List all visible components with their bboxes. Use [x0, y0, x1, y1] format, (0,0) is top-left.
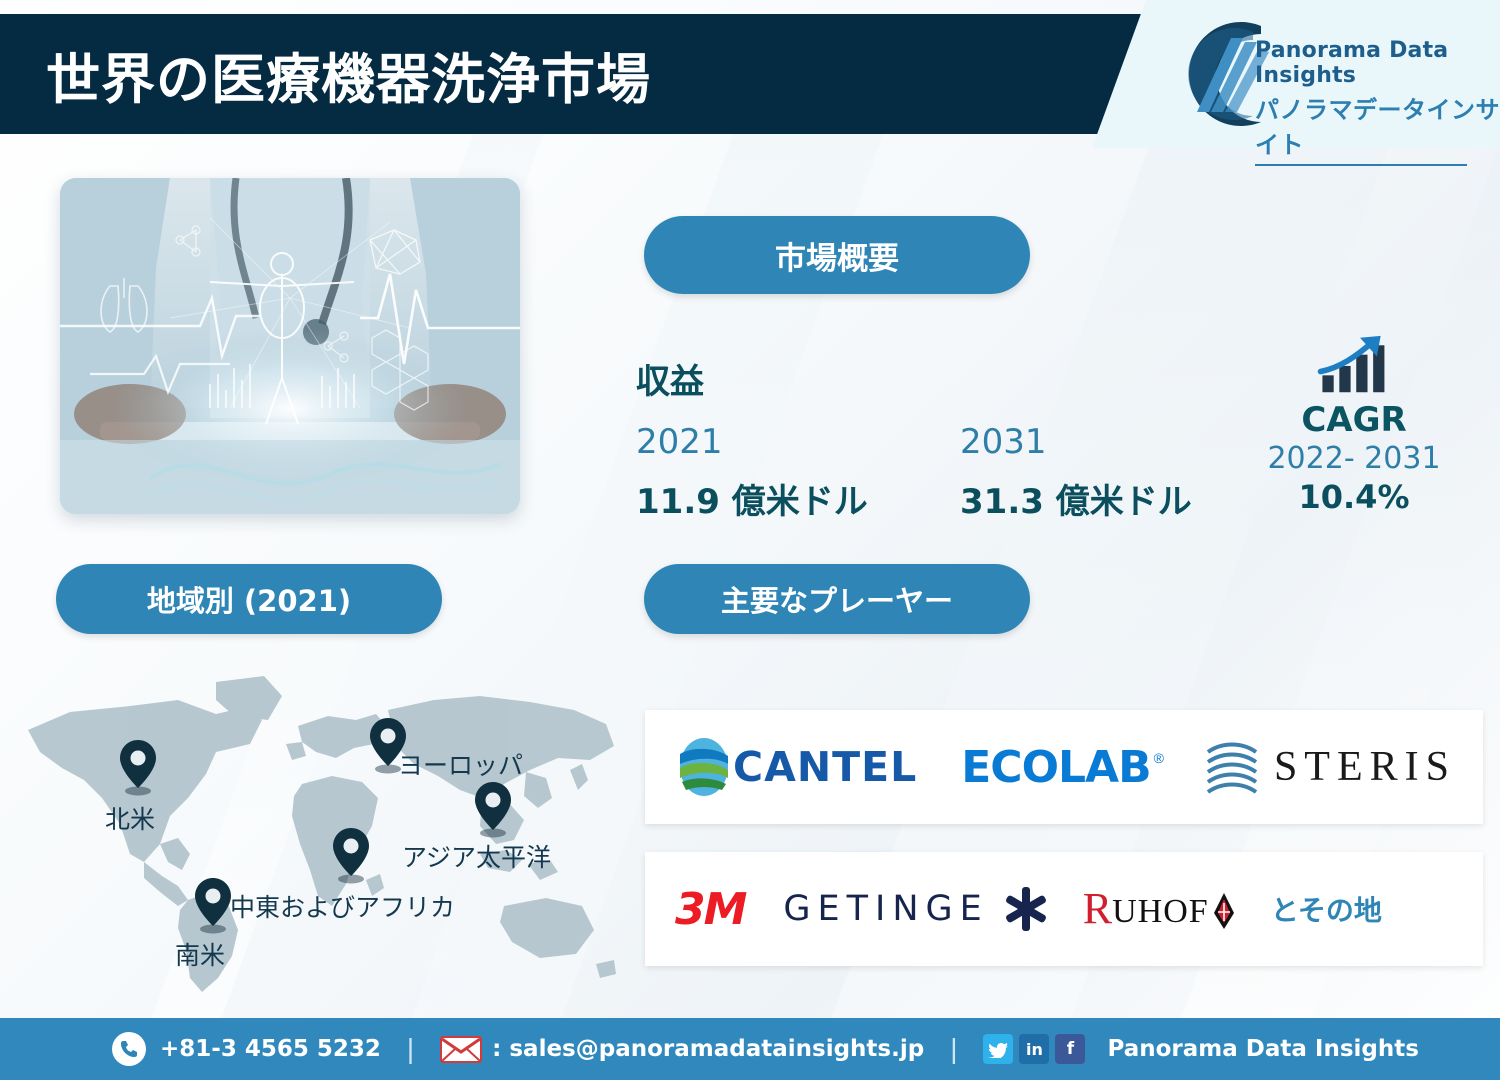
map-label-5: 南米 [175, 936, 225, 972]
revenue-2021: 2021 11.9 億米ドル [636, 422, 868, 523]
cagr-range: 2022- 2031 [1254, 441, 1454, 476]
footer-phone[interactable]: +81-3 4565 5232 [112, 1032, 381, 1066]
world-map-icon [10, 648, 630, 998]
map-label-4: 中東およびアフリカ [230, 888, 455, 924]
revenue-year: 2021 [636, 422, 868, 462]
location-pin-icon [470, 780, 516, 838]
brand-cantel: CANTEL [675, 736, 917, 798]
map-pin-5[interactable] [190, 876, 236, 934]
cagr-title: CAGR [1254, 403, 1454, 437]
brand-underline [1255, 164, 1467, 166]
growth-bar-chart-arrow-icon [1298, 334, 1411, 396]
brand-ruhof: R UHOF [1083, 887, 1237, 931]
revenue-value: 31.3 億米ドル [960, 474, 1192, 523]
location-pin-icon [190, 876, 236, 934]
facebook-icon[interactable]: f [1055, 1034, 1085, 1064]
footer-email[interactable]: : sales@panoramadatainsights.jp [440, 1034, 924, 1064]
map-label-1: 北米 [105, 800, 155, 836]
market-overview-pill[interactable]: 市場概要 [644, 216, 1030, 294]
footer-bar: +81-3 4565 5232 | : sales@panoramadatain… [0, 1018, 1500, 1080]
header-bar: 世界の医療機器洗浄市場 [0, 14, 1160, 134]
linkedin-icon[interactable]: in [1019, 1034, 1049, 1064]
brand-name-en: Panorama Data Insights [1255, 38, 1500, 88]
getinge-asterisk-icon [1003, 885, 1049, 933]
brand-steris-label: STERIS [1274, 743, 1456, 791]
key-players-pill[interactable]: 主要なプレーヤー [644, 564, 1030, 634]
brand-ecolab-label: ECOLAB [961, 742, 1150, 793]
footer-divider: | [950, 1033, 957, 1065]
phone-icon [112, 1032, 146, 1066]
revenue-year: 2031 [960, 422, 1192, 462]
revenue-value: 11.9 億米ドル [636, 474, 868, 523]
envelope-icon [440, 1034, 482, 1064]
map-pin-3[interactable] [470, 780, 516, 838]
twitter-icon[interactable] [983, 1034, 1013, 1064]
region-map [10, 648, 630, 998]
brand-cantel-label: CANTEL [733, 743, 917, 791]
brand-ecolab: ECOLAB ® [961, 742, 1164, 793]
location-pin-icon [328, 826, 374, 884]
footer-brand: Panorama Data Insights [1107, 1036, 1418, 1062]
by-region-pill[interactable]: 地域別 (2021) [56, 564, 442, 634]
map-label-2: ヨーロッパ [398, 746, 523, 782]
ruhof-flame-icon [1211, 891, 1237, 931]
footer-email-address: sales@panoramadatainsights.jp [509, 1036, 924, 1062]
brand-logo-text: Panorama Data Insights パノラマデータインサイト [1255, 38, 1500, 166]
footer-email-separator: : [492, 1036, 501, 1062]
brand-ruhof-initial: R [1083, 887, 1112, 931]
revenue-2031: 2031 31.3 億米ドル [960, 422, 1192, 523]
cagr-value: 10.4% [1254, 478, 1454, 516]
footer-divider: | [407, 1033, 414, 1065]
key-players-row-2: 3M GETINGE R UHOF とその地 [645, 852, 1483, 966]
brand-name-jp: パノラマデータインサイト [1255, 90, 1500, 160]
brand-others-label: とその地 [1271, 889, 1382, 929]
registered-mark-icon: ® [1154, 750, 1164, 766]
page-title: 世界の医療機器洗浄市場 [46, 35, 651, 114]
brand-3m-label: 3M [675, 884, 745, 935]
brand-ruhof-rest: UHOF [1112, 893, 1209, 931]
revenue-label: 収益 [636, 354, 704, 403]
brand-logo-panel[interactable]: Panorama Data Insights パノラマデータインサイト [1155, 0, 1500, 148]
brand-steris: STERIS [1204, 738, 1456, 796]
map-label-3: アジア太平洋 [402, 838, 551, 874]
footer-phone-number: +81-3 4565 5232 [160, 1036, 381, 1062]
brand-getinge-label: GETINGE [783, 889, 988, 929]
location-pin-icon [115, 738, 161, 796]
map-pin-1[interactable] [115, 738, 161, 796]
hero-image [60, 178, 520, 514]
steris-waves-icon [1204, 738, 1260, 796]
cantel-globe-icon [675, 736, 733, 798]
key-players-row-1: CANTEL ECOLAB ® STERIS [645, 710, 1483, 824]
footer-socials: in f Panorama Data Insights [983, 1034, 1418, 1064]
map-pin-4[interactable] [328, 826, 374, 884]
cagr-block: CAGR 2022- 2031 10.4% [1254, 334, 1454, 516]
hero-illustration-icon [60, 178, 520, 514]
infographic-root: 世界の医療機器洗浄市場 Panorama Data Insights パノラマデ… [0, 0, 1500, 1080]
